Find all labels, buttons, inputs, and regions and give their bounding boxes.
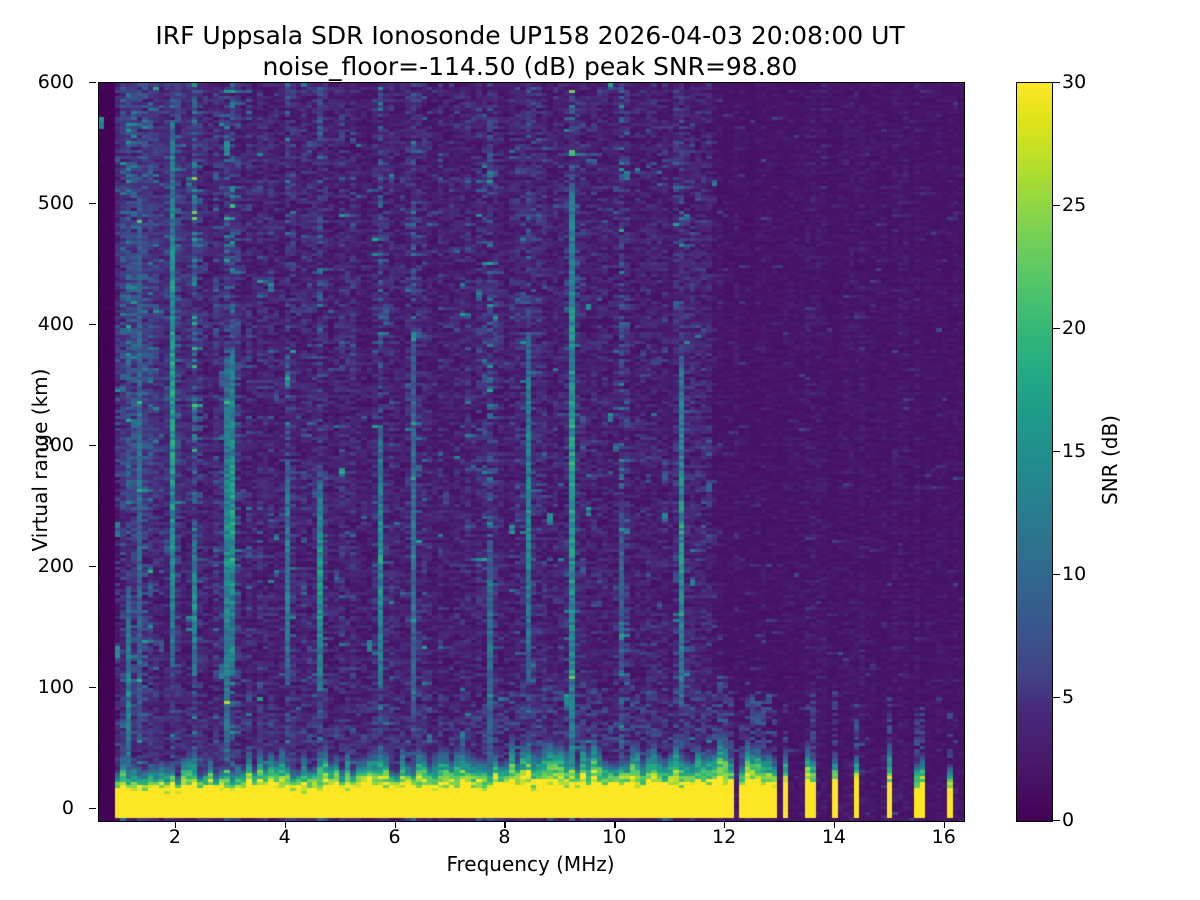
- ionogram-plot-area: [98, 82, 965, 822]
- y-axis-tick-mark: [89, 566, 96, 567]
- y-axis-tick-mark: [89, 445, 96, 446]
- y-axis-tick-mark: [89, 324, 96, 325]
- colorbar-tick-mark: [1053, 451, 1060, 452]
- colorbar-tick-mark: [1053, 82, 1060, 83]
- x-axis-tick-16: 16: [932, 826, 956, 848]
- colorbar-tick-10: 10: [1062, 563, 1086, 585]
- colorbar-tick-mark: [1053, 820, 1060, 821]
- colorbar-tick-mark: [1053, 574, 1060, 575]
- colorbar-tick-5: 5: [1062, 686, 1074, 708]
- x-axis-label: Frequency (MHz): [98, 852, 963, 876]
- colorbar-gradient: [1016, 82, 1053, 822]
- x-axis-tick-14: 14: [822, 826, 846, 848]
- figure-title-line1: IRF Uppsala SDR Ionosonde UP158 2026-04-…: [0, 20, 1060, 51]
- x-axis-tick-2: 2: [169, 826, 181, 848]
- x-axis-tick-10: 10: [602, 826, 626, 848]
- x-axis-tick-6: 6: [389, 826, 401, 848]
- colorbar-tick-mark: [1053, 328, 1060, 329]
- ionogram-figure: IRF Uppsala SDR Ionosonde UP158 2026-04-…: [0, 0, 1200, 900]
- y-axis-tick-mark: [89, 82, 96, 83]
- ionogram-heatmap-canvas: [99, 83, 964, 821]
- x-axis-tick-4: 4: [279, 826, 291, 848]
- x-axis-tick-12: 12: [712, 826, 736, 848]
- colorbar-tick-mark: [1053, 697, 1060, 698]
- x-axis-tick-8: 8: [498, 826, 510, 848]
- y-axis-tick-mark: [89, 687, 96, 688]
- y-axis-label-container: Virtual range (km): [22, 82, 52, 820]
- y-axis-tick-mark: [89, 808, 96, 809]
- colorbar-tick-25: 25: [1062, 194, 1086, 216]
- figure-title-line2: noise_floor=-114.50 (dB) peak SNR=98.80: [0, 51, 1060, 82]
- colorbar-label-container: SNR (dB): [1095, 82, 1125, 820]
- y-axis-tick-mark: [89, 203, 96, 204]
- y-axis-tick-0: 0: [62, 797, 74, 819]
- colorbar-label: SNR (dB): [1098, 180, 1122, 740]
- colorbar-tick-30: 30: [1062, 71, 1086, 93]
- colorbar-tick-20: 20: [1062, 317, 1086, 339]
- colorbar-tick-mark: [1053, 205, 1060, 206]
- y-axis-label: Virtual range (km): [28, 180, 52, 740]
- colorbar-tick-15: 15: [1062, 440, 1086, 462]
- colorbar-tick-0: 0: [1062, 809, 1074, 831]
